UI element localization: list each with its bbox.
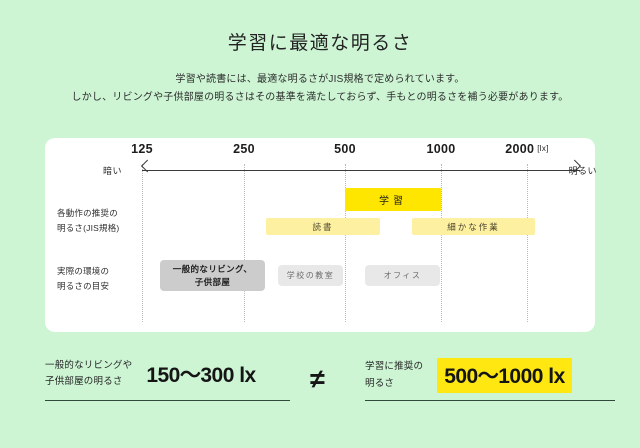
comparison-left-value: 150〜300 lx — [146, 359, 255, 389]
bar-reading[interactable]: 読書 — [266, 218, 380, 235]
axis-unit: [lx] — [537, 144, 548, 153]
chart-card: 125 250 500 1000 2000[lx] 暗い 明るい 各動作の推奨の… — [45, 138, 595, 332]
bar-living-kids-room-line1: 一般的なリビング、 — [173, 263, 253, 275]
bar-study[interactable]: 学習 — [345, 188, 441, 211]
bar-living-kids-room[interactable]: 一般的なリビング、 子供部屋 — [160, 260, 265, 291]
row-label-jis-line2: 明るさ(JIS規格) — [57, 221, 149, 236]
row-label-actual-line1: 実際の環境の — [57, 264, 149, 279]
bar-detailed-work[interactable]: 細かな作業 — [412, 218, 535, 235]
comparison-left: 一般的なリビングや 子供部屋の明るさ 150〜300 lx — [45, 358, 256, 390]
comparison-left-label: 一般的なリビングや 子供部屋の明るさ — [45, 358, 132, 390]
comparison-right-label-line1: 学習に推奨の — [365, 359, 423, 375]
comparison-right-label-line2: 明るさ — [365, 376, 423, 392]
gridline-250 — [244, 164, 245, 322]
axis-label-bright: 明るい — [568, 164, 597, 177]
divider-right — [365, 400, 615, 401]
page-title: 学習に最適な明るさ — [0, 28, 640, 55]
bar-office[interactable]: オフィス — [365, 265, 440, 286]
page-subtitle: 学習や読書には、最適な明るさがJIS規格で定められています。 しかし、リビングや… — [0, 71, 640, 106]
bar-living-kids-room-line2: 子供部屋 — [195, 276, 231, 288]
page-header: 学習に最適な明るさ 学習や読書には、最適な明るさがJIS規格で定められています。… — [0, 0, 640, 106]
brightness-axis — [142, 170, 580, 171]
subtitle-line-1: 学習や読書には、最適な明るさがJIS規格で定められています。 — [0, 71, 640, 89]
divider-left — [45, 400, 290, 401]
row-label-actual-line2: 明るさの目安 — [57, 279, 149, 294]
arrow-left-icon — [141, 160, 154, 173]
not-equal-icon: ≠ — [310, 364, 325, 395]
bar-school-classroom[interactable]: 学校の教室 — [278, 265, 343, 286]
scale-label-2000-value: 2000 — [505, 142, 534, 156]
row-label-actual: 実際の環境の 明るさの目安 — [57, 264, 149, 294]
comparison-left-label-line2: 子供部屋の明るさ — [45, 374, 132, 390]
comparison-right: 学習に推奨の 明るさ 500〜1000 lx — [365, 358, 572, 393]
scale-label-500: 500 — [334, 142, 356, 156]
gridline-125 — [142, 164, 143, 322]
comparison-footer: 一般的なリビングや 子供部屋の明るさ 150〜300 lx ≠ 学習に推奨の 明… — [0, 350, 640, 420]
scale-label-125: 125 — [131, 142, 153, 156]
subtitle-line-2: しかし、リビングや子供部屋の明るさはその基準を満たしておらず、手もとの明るさを補… — [0, 89, 640, 107]
axis-label-dark: 暗い — [103, 164, 122, 177]
gridline-1000 — [441, 164, 442, 322]
comparison-left-label-line1: 一般的なリビングや — [45, 358, 132, 374]
row-label-jis: 各動作の推奨の 明るさ(JIS規格) — [57, 206, 149, 236]
scale-label-250: 250 — [233, 142, 255, 156]
comparison-right-value: 500〜1000 lx — [437, 358, 572, 393]
scale-label-1000: 1000 — [426, 142, 455, 156]
row-label-jis-line1: 各動作の推奨の — [57, 206, 149, 221]
comparison-right-label: 学習に推奨の 明るさ — [365, 359, 423, 391]
gridline-2000 — [527, 164, 528, 322]
scale-label-2000: 2000[lx] — [505, 142, 548, 156]
